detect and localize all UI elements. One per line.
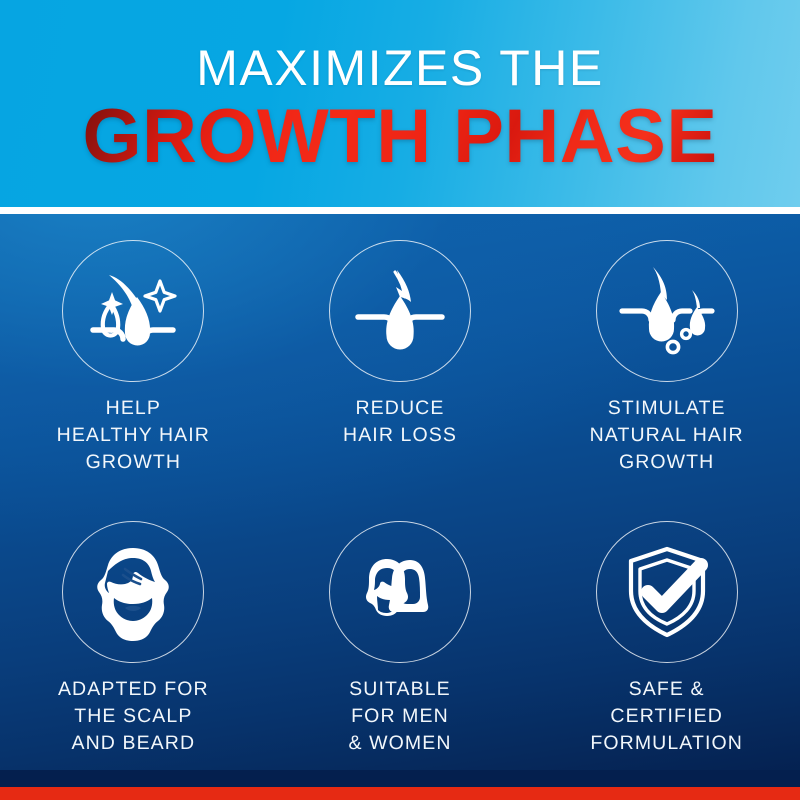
- benefit-caption: REDUCE HAIR LOSS: [343, 395, 457, 449]
- benefit-badge: [329, 240, 471, 382]
- benefit-badge: [596, 521, 738, 663]
- navy-footer-strip: [0, 770, 800, 787]
- headline-line-2: GROWTH PHASE: [82, 96, 717, 178]
- two-follicles-bubbles-icon: [615, 259, 719, 363]
- hair-follicle-sparkle-icon: [81, 259, 185, 363]
- benefit-caption: ADAPTED FOR THE SCALP AND BEARD: [58, 676, 209, 757]
- header-banner: MAXIMIZES THE GROWTH PHASE: [0, 0, 800, 207]
- benefits-section: HELP HEALTHY HAIR GROWTH: [0, 214, 800, 787]
- benefit-item-reduce-hair-loss: REDUCE HAIR LOSS: [267, 214, 534, 501]
- benefit-badge: [329, 521, 471, 663]
- benefit-caption: HELP HEALTHY HAIR GROWTH: [57, 395, 210, 476]
- benefit-item-stimulate-natural-hair-growth: STIMULATE NATURAL HAIR GROWTH: [533, 214, 800, 501]
- benefit-badge: [62, 521, 204, 663]
- white-divider: [0, 207, 800, 214]
- benefit-item-adapted-for-scalp-and-beard: ADAPTED FOR THE SCALP AND BEARD: [0, 501, 267, 788]
- benefits-poster: MAXIMIZES THE GROWTH PHASE: [0, 0, 800, 800]
- headline-line-1: MAXIMIZES THE: [196, 42, 604, 94]
- benefits-grid: HELP HEALTHY HAIR GROWTH: [0, 214, 800, 787]
- red-footer-bar: [0, 787, 800, 800]
- benefit-caption: SAFE & CERTIFIED FORMULATION: [590, 676, 743, 757]
- benefit-item-safe-certified-formulation: SAFE & CERTIFIED FORMULATION: [533, 501, 800, 788]
- benefit-item-suitable-for-men-and-women: SUITABLE FOR MEN & WOMEN: [267, 501, 534, 788]
- bearded-man-face-icon: [83, 542, 183, 642]
- man-and-woman-heads-icon: [350, 542, 450, 642]
- benefit-item-help-healthy-hair-growth: HELP HEALTHY HAIR GROWTH: [0, 214, 267, 501]
- benefit-badge: [596, 240, 738, 382]
- benefit-badge: [62, 240, 204, 382]
- shield-checkmark-icon: [615, 540, 719, 644]
- benefit-caption: STIMULATE NATURAL HAIR GROWTH: [590, 395, 744, 476]
- benefit-caption: SUITABLE FOR MEN & WOMEN: [348, 676, 451, 757]
- broken-hair-follicle-icon: [348, 259, 452, 363]
